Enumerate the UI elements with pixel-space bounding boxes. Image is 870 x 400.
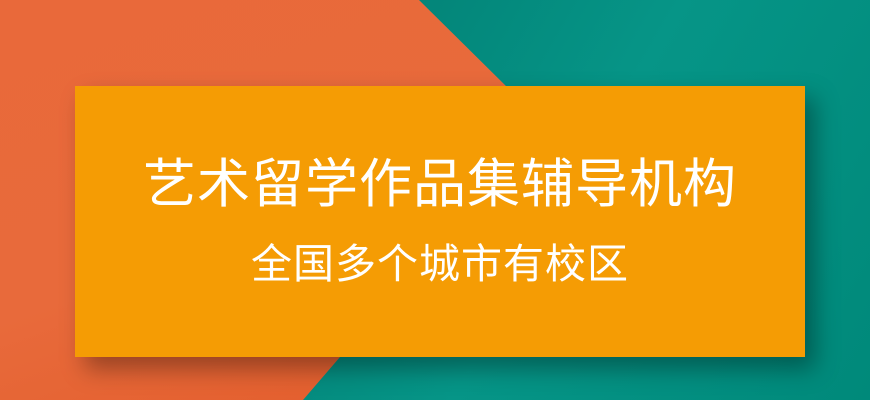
banner-subtitle: 全国多个城市有校区 (251, 243, 629, 286)
headline-card: 艺术留学作品集辅导机构 全国多个城市有校区 (75, 86, 805, 357)
promo-banner: 艺术留学作品集辅导机构 全国多个城市有校区 (0, 0, 870, 400)
banner-title: 艺术留学作品集辅导机构 (143, 157, 737, 213)
